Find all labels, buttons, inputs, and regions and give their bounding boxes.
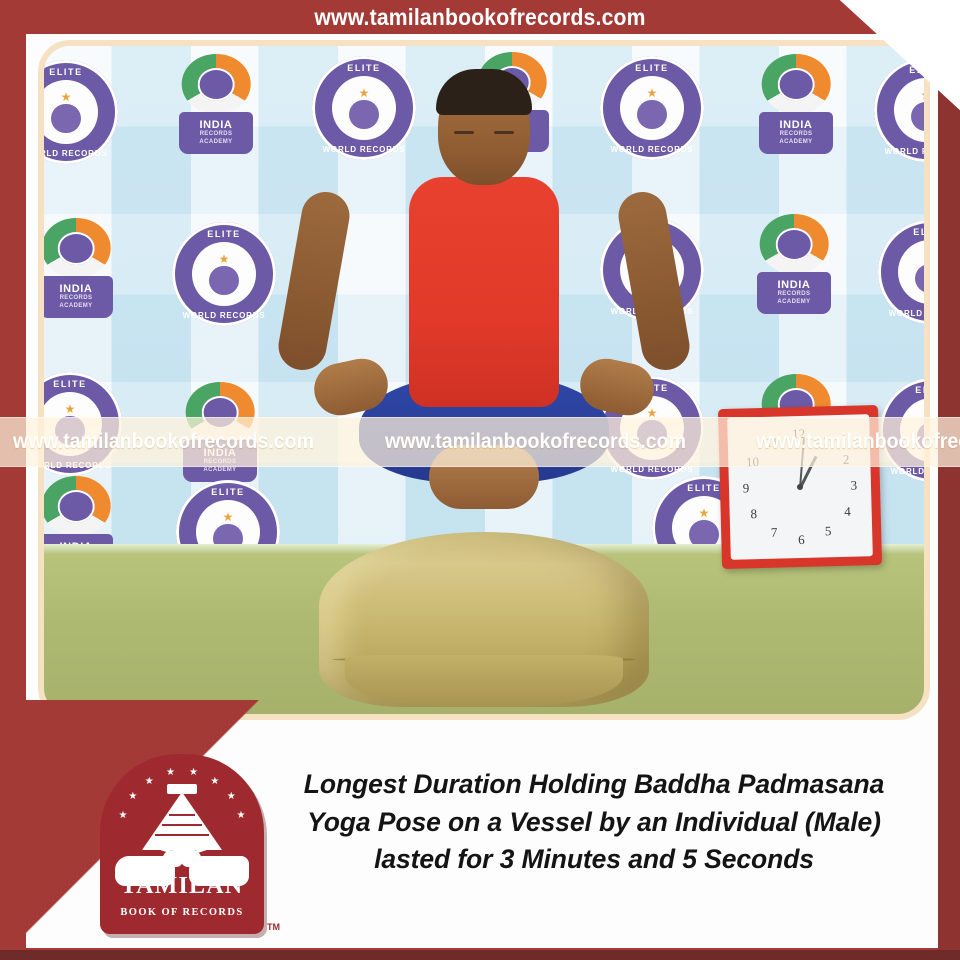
star-icon: ★: [237, 811, 246, 821]
watermark-text: www.tamilanbookofrecords.com: [756, 430, 960, 454]
star-icon: ★: [189, 768, 198, 778]
watermark-text: www.tamilanbookofrecords.com: [385, 430, 731, 454]
india-logo-line3: ACADEMY: [779, 139, 812, 147]
clock-center-pin: [797, 484, 803, 490]
india-logo-line1: INDIA: [60, 284, 93, 295]
trademark-mark: TM: [267, 922, 280, 932]
globe-icon: [51, 104, 81, 134]
star-icon: ★: [166, 768, 175, 778]
india-logo-line1: INDIA: [780, 120, 813, 131]
elite-logo-top-text: ELITE: [878, 227, 924, 237]
india-logo-line3: ACADEMY: [59, 303, 92, 311]
star-icon: ★: [118, 811, 127, 821]
clock-numeral: 6: [798, 531, 805, 547]
watermark-strip: www.tamilanbookofrecords.com www.tamilan…: [0, 417, 960, 467]
clock-numeral: 9: [743, 480, 750, 496]
star-icon: ★: [65, 403, 76, 415]
india-logo-line2: RECORDS: [780, 131, 813, 139]
badge-shape: ★ ★ ★ ★ ★ ★ ★ ★: [100, 754, 264, 934]
india-logo-line2: RECORDS: [778, 291, 811, 299]
record-photograph: ELITE★WORLD RECORDS INDIARECORDSACADEMY …: [44, 46, 924, 714]
caption-line-1: Longest Duration Holding Baddha Padmasan…: [274, 766, 914, 804]
elite-logo-top-text: ELITE: [312, 63, 416, 73]
website-url: www.tamilanbookofrecords.com: [314, 4, 645, 31]
vessel-base: [345, 655, 622, 708]
elite-logo-top-text: ELITE: [44, 379, 122, 389]
star-icon: ★: [145, 777, 154, 787]
star-icon: ★: [223, 511, 234, 523]
star-icon: ★: [227, 792, 236, 802]
record-certificate-poster: ELITE★WORLD RECORDS INDIARECORDSACADEMY …: [0, 0, 960, 960]
right-border-rail: [938, 0, 960, 960]
elite-world-records-logo: ELITE★WORLD RECORDS: [44, 60, 118, 164]
elite-logo-top-text: ELITE: [44, 67, 118, 77]
star-icon: ★: [61, 91, 72, 103]
clock-numeral: 8: [750, 506, 757, 522]
yoga-performer: [308, 73, 660, 621]
elite-logo-bottom-text: WORLD RECORDS: [878, 309, 924, 318]
star-icon: ★: [128, 792, 137, 802]
ashoka-chakra-icon: [57, 490, 94, 523]
caption-line-3: lasted for 3 Minutes and 5 Seconds: [274, 841, 914, 879]
india-logo-line2: RECORDS: [60, 295, 93, 303]
ashoka-chakra-icon: [57, 232, 94, 265]
ashoka-chakra-icon: [775, 228, 812, 261]
record-caption: Longest Duration Holding Baddha Padmasan…: [274, 766, 914, 879]
india-logo-line1: INDIA: [778, 280, 811, 291]
footer-section: ★ ★ ★ ★ ★ ★ ★ ★: [26, 716, 938, 948]
india-logo-line3: ACADEMY: [203, 467, 236, 475]
globe-icon: [209, 266, 239, 296]
elite-world-records-logo: ELITE★WORLD RECORDS: [878, 220, 924, 324]
star-icon: ★: [699, 507, 710, 519]
performer-right-eye: [494, 131, 514, 134]
performer-head: [438, 73, 530, 185]
india-records-academy-logo: INDIARECORDSACADEMY: [742, 212, 846, 316]
elite-logo-top-text: ELITE: [172, 229, 276, 239]
clock-numeral: 7: [771, 525, 778, 541]
clock-numeral: 3: [850, 478, 857, 494]
ashoka-chakra-icon: [197, 68, 234, 101]
top-right-corner-notch: [840, 0, 960, 110]
elite-logo-top-text: ELITE: [880, 385, 924, 395]
india-records-academy-logo: INDIARECORDSACADEMY: [44, 216, 128, 320]
india-logo-line1: INDIA: [200, 120, 233, 131]
performer-red-vest: [409, 177, 559, 407]
logo-title: TAMILAN: [100, 873, 264, 900]
elite-logo-top-text: ELITE: [600, 63, 704, 73]
logo-subtitle: BOOK OF RECORDS: [100, 907, 264, 918]
elite-logo-bottom-text: WORLD RECORDS: [44, 149, 118, 158]
watermark-text: www.tamilanbookofrecords.com: [13, 430, 359, 454]
elite-world-records-logo: ELITE★WORLD RECORDS: [172, 222, 276, 326]
elite-logo-top-text: ELITE: [176, 487, 280, 497]
india-logo-line3: ACADEMY: [199, 139, 232, 147]
india-logo-line3: ACADEMY: [777, 299, 810, 307]
performer-left-eye: [454, 131, 474, 134]
india-records-academy-logo: INDIARECORDSACADEMY: [744, 52, 848, 156]
star-icon: ★: [210, 777, 219, 787]
elite-logo-bottom-text: WORLD RECORDS: [172, 311, 276, 320]
tamilan-book-of-records-logo: ★ ★ ★ ★ ★ ★ ★ ★: [100, 754, 264, 934]
caption-line-2: Yoga Pose on a Vessel by an Individual (…: [274, 804, 914, 842]
left-border-rail: [0, 0, 26, 960]
bottom-border-rail: [0, 950, 960, 960]
gopuram-tiers: [149, 806, 215, 850]
india-records-academy-logo: INDIARECORDSACADEMY: [164, 52, 268, 156]
photo-scene: ELITE★WORLD RECORDS INDIARECORDSACADEMY …: [44, 46, 924, 714]
clock-numeral: 5: [825, 524, 832, 540]
india-logo-line2: RECORDS: [200, 131, 233, 139]
clock-numeral: 4: [844, 503, 851, 519]
top-website-banner: www.tamilanbookofrecords.com: [0, 0, 960, 34]
performer-hair: [436, 69, 532, 115]
star-icon: ★: [219, 253, 230, 265]
elite-logo-bottom-text: WORLD RECORDS: [874, 147, 924, 156]
globe-icon: [915, 264, 924, 294]
ashoka-chakra-icon: [777, 68, 814, 101]
